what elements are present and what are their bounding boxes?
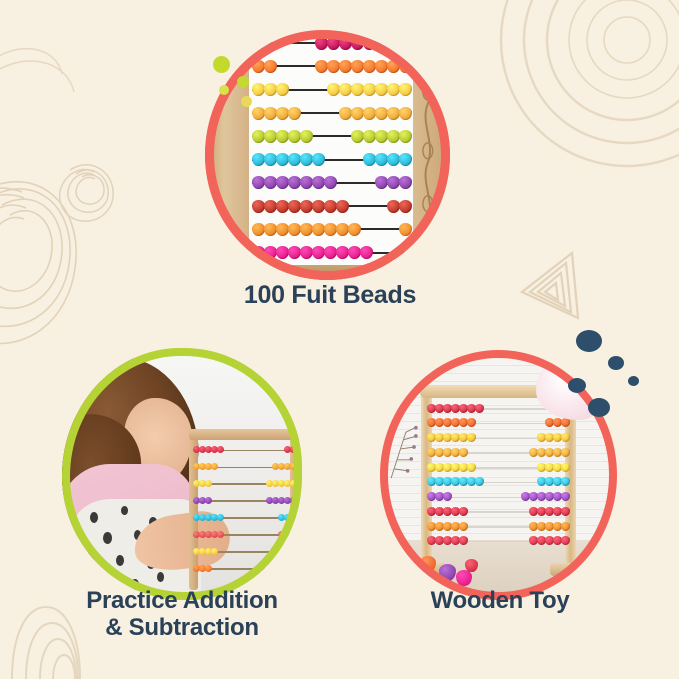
accent-dot [219,85,229,95]
abacus-beads-left [193,562,211,575]
abacus-bead [252,153,265,166]
abacus-beads-left [252,219,360,241]
abacus-row [249,102,413,124]
abacus-bead [264,107,277,120]
abacus-bead [561,477,570,486]
abacus-row [249,172,413,194]
abacus-beads-left [428,534,468,548]
abacus-beads-left [428,431,476,445]
abacus-bead [399,223,412,236]
navy-dot [608,356,624,370]
abacus-bead [264,200,277,213]
abacus-bead [264,83,277,96]
abacus-bead [211,463,218,470]
girl-with-abacus-image [62,348,302,600]
abacus-bead [300,200,313,213]
abacus-bead [399,130,412,143]
abacus-row [428,445,570,459]
abacus-bead [290,531,297,538]
abacus-row [193,528,297,541]
navy-dot [628,376,639,386]
abacus-bead [288,200,301,213]
abacus-beads-left [428,460,476,474]
abacus-bead [399,153,412,166]
abacus-bead [561,492,570,501]
abacus-bead [399,107,412,120]
abacus-frame-top [189,429,299,440]
feature-card-fruit-beads[interactable] [205,30,450,280]
abacus-bead [399,176,412,189]
dress-polka-dot [85,552,94,564]
caption-fruit-beads: 100 Fuit Beads [140,281,520,309]
deco-spiral-triangle-bottom-right [522,253,578,318]
abacus-beads-right [267,494,297,507]
abacus-row [428,416,570,430]
abacus-bead [467,418,476,427]
abacus-bead [276,153,289,166]
abacus-beads-right [352,126,412,148]
abacus-bead [264,130,277,143]
abacus-bead [288,130,301,143]
abacus-row [428,519,570,533]
abacus-bead [561,433,570,442]
abacus-bead [217,531,224,538]
deco-concentric-circles-top-right [501,0,679,166]
deco-arc-top-left [0,49,74,92]
abacus-bead [290,446,297,453]
abacus-row [193,562,297,575]
abacus-bead [324,200,337,213]
abacus-beads-left [193,528,223,541]
abacus-bead [276,83,289,96]
caption-wooden-toy: Wooden Toy [385,588,615,615]
accent-dot [213,56,230,73]
loose-bead [456,570,472,586]
abacus-row [249,79,413,101]
abacus-bead [336,246,349,259]
abacus-row [428,505,570,519]
abacus-bead [312,223,325,236]
abacus-bead [217,446,224,453]
abacus-bead [252,200,265,213]
abacus-bead [312,246,325,259]
abacus-beads-left [428,416,476,430]
navy-dot [568,378,586,393]
abacus-beads-left [252,126,312,148]
abacus-bead [252,60,265,73]
loose-bead [420,556,436,572]
abacus-bead [276,223,289,236]
abacus-beads-left [252,149,324,171]
abacus-bead [290,548,297,555]
promo-feature-panel: 100 Fuit Beads Practice Addition & S [0,0,679,679]
caption-line-2: & Subtraction [42,615,322,642]
dress-polka-dot [116,555,124,566]
abacus-bead [252,176,265,189]
abacus-base [205,265,450,280]
wood-grain-squiggle [418,45,438,241]
abacus-beads-left [193,477,211,490]
abacus-bead [276,107,289,120]
abacus-beads-left [252,79,288,101]
abacus-row [193,511,297,524]
abacus-bead [288,246,301,259]
abacus-beads-right [364,149,412,171]
abacus-beads-right [529,534,569,548]
abacus-bead [300,246,313,259]
abacus-bead [561,448,570,457]
abacus-row [249,32,413,54]
abacus-bead [561,536,570,545]
abacus-bead [360,246,373,259]
deco-small-blob-left [60,165,114,221]
abacus-bead [290,497,297,504]
abacus-bead [252,223,265,236]
abacus-beads-right [279,562,297,575]
loose-bead [424,573,438,587]
abacus-bead [276,200,289,213]
abacus-row [193,460,297,473]
deco-large-blob-left [0,182,76,344]
abacus-bead [252,246,265,259]
abacus-row [428,534,570,548]
abacus-bead-board [249,30,413,270]
fruit-beads-photo [205,30,450,280]
abacus-bead [288,223,301,236]
abacus-bead [475,404,484,413]
abacus-beads-right [316,32,412,54]
loose-bead [439,564,456,581]
feature-card-practice-math[interactable] [62,348,302,600]
abacus-beads-left [428,475,484,489]
abacus-beads-right [529,505,569,519]
abacus-bead [312,176,325,189]
abacus-row [428,475,570,489]
abacus-beads-right [388,195,412,217]
abacus-beads-right [537,431,569,445]
abacus-bead [290,463,297,470]
abacus-bead [264,60,277,73]
abacus-row [249,195,413,217]
abacus-bead [348,223,361,236]
abacus-beads-right [537,475,569,489]
abacus-bead [336,223,349,236]
abacus-beads-left [428,445,468,459]
abacus-beads-right [340,102,412,124]
abacus-bead [276,246,289,259]
abacus-row [428,460,570,474]
abacus-beads-right [376,172,412,194]
abacus-left-plank [205,30,254,280]
abacus-beads-left [252,102,300,124]
abacus-bead [264,246,277,259]
abacus-beads-left [252,242,372,264]
abacus-beads-right [279,511,297,524]
abacus-beads-left [252,56,276,78]
abacus-bead [475,477,484,486]
abacus-bead [467,433,476,442]
abacus-beads-right [279,528,297,541]
dress-polka-dot [121,506,128,515]
abacus-row [193,545,297,558]
abacus-bead [399,37,412,50]
abacus-row [428,490,570,504]
abacus-bead [561,418,570,427]
abacus-bead [561,522,570,531]
abacus-row [428,431,570,445]
navy-dot [588,398,610,417]
abacus-bead [336,200,349,213]
abacus-row [249,219,413,241]
abacus-bead [252,130,265,143]
abacus-row [249,242,413,264]
abacus-bead [264,153,277,166]
abacus-foot-right [550,563,585,576]
small-abacus [187,429,302,590]
abacus-beads-left [252,172,336,194]
abacus-row [193,494,297,507]
abacus-bead [264,176,277,189]
abacus-bead [290,514,297,521]
abacus-beads-left [193,545,217,558]
abacus-bead [324,223,337,236]
abacus-bead [399,60,412,73]
abacus-bead [399,83,412,96]
abacus-row [249,56,413,78]
abacus-bead [252,107,265,120]
abacus-bead [300,153,313,166]
abacus-bead [264,223,277,236]
abacus-beads-right [316,56,412,78]
abacus-bead [459,507,468,516]
abacus-bead [288,107,301,120]
abacus-bead [443,492,452,501]
abacus-beads-right [267,477,297,490]
abacus-beads-right [328,79,412,101]
abacus-bead [276,176,289,189]
abacus-beads-right [529,445,569,459]
caption-practice-math: Practice Addition & Subtraction [42,588,322,642]
abacus-bead [288,153,301,166]
abacus-bead [276,130,289,143]
abacus-beads-right [285,443,297,456]
abacus-bead [324,176,337,189]
abacus-bead [290,480,297,487]
accent-dot [241,96,252,107]
loose-bead [401,566,418,583]
caption-line-1: Practice Addition [42,588,322,615]
navy-dot [576,330,602,352]
abacus-beads-left [428,490,452,504]
abacus-closeup-image [205,30,450,280]
abacus-beads-left [193,511,223,524]
accent-dot [237,76,249,88]
abacus-beads-left [428,401,484,415]
abacus-bead [205,497,212,504]
abacus-bead [459,536,468,545]
abacus-beads-right [400,219,412,241]
abacus-bead [300,176,313,189]
abacus-beads-left [193,494,211,507]
abacus-bead [290,565,297,572]
abacus-row [193,477,297,490]
abacus-beads-right [537,460,569,474]
dress-polka-dot [98,575,107,587]
abacus-bead [205,565,212,572]
abacus-bead [312,200,325,213]
practice-math-photo [62,348,302,600]
dress-polka-dot [103,532,112,544]
abacus-row [193,443,297,456]
abacus-bead [459,448,468,457]
abacus-beads-right [279,545,297,558]
abacus-bead [300,223,313,236]
abacus-bead [205,480,212,487]
abacus-bead [399,200,412,213]
abacus-bead [312,153,325,166]
abacus-bead [217,514,224,521]
loose-bead [465,559,478,572]
abacus-beads-left [428,505,468,519]
abacus-bead [561,507,570,516]
abacus-beads-left [193,460,217,473]
abacus-bead [459,522,468,531]
abacus-beads-left [252,195,348,217]
abacus-beads-left [428,519,468,533]
abacus-bead [211,548,218,555]
abacus-bead [348,246,361,259]
abacus-bead [300,130,313,143]
abacus-beads-right [521,490,569,504]
loose-beads-on-table [399,553,494,586]
abacus-bead [252,83,265,96]
dress-polka-dot [90,512,98,523]
abacus-bead [288,176,301,189]
dress-polka-dot [157,572,164,582]
abacus-bead [467,463,476,472]
abacus-beads-left [193,443,223,456]
abacus-bead [324,246,337,259]
abacus-bead [561,463,570,472]
abacus-row [249,149,413,171]
abacus-row [249,126,413,148]
abacus-beads-right [273,460,297,473]
abacus-beads-right [529,519,569,533]
